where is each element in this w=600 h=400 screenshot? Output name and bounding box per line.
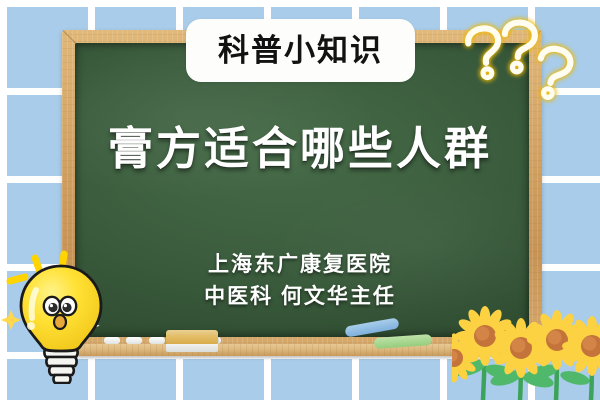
sparkle-icon	[1, 310, 21, 330]
page-title: 膏方适合哪些人群	[0, 126, 600, 171]
light-bulb-icon	[0, 244, 126, 384]
question-marks-icon	[452, 10, 592, 110]
blackboard-eraser	[166, 330, 218, 345]
poster-canvas: 膏方适合哪些人群 上海东广康复医院 中医科 何文华主任 科普小知识	[0, 0, 600, 400]
sunflowers-decoration	[452, 288, 600, 400]
chalk-stick-white	[126, 337, 142, 344]
title-badge: 科普小知识	[186, 19, 415, 82]
title-badge-label: 科普小知识	[218, 35, 383, 66]
chalk-stick-white	[149, 337, 165, 344]
